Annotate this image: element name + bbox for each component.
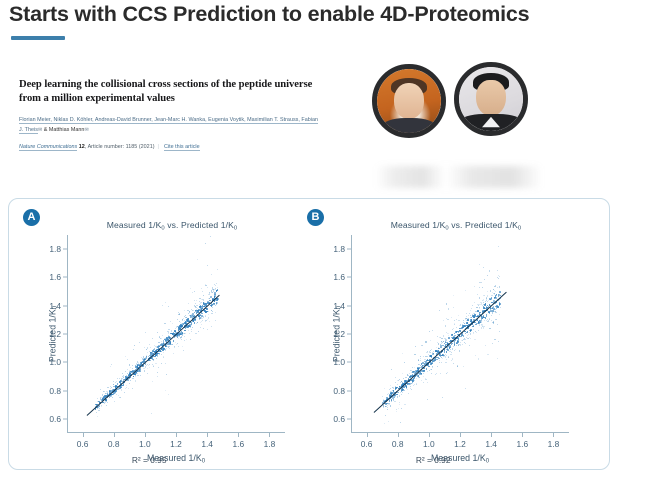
scatter-point — [408, 393, 409, 394]
scatter-point — [396, 394, 398, 396]
scatter-point — [138, 363, 139, 364]
scatter-point — [215, 288, 216, 289]
scatter-point — [466, 313, 467, 314]
scatter-point — [168, 329, 169, 330]
y-tick-mark — [63, 334, 67, 335]
scatter-point — [473, 329, 474, 330]
scatter-point — [446, 351, 448, 353]
scatter-point — [174, 330, 176, 332]
scatter-point — [211, 326, 212, 327]
scatter-point — [208, 298, 209, 299]
y-tick-mark — [347, 277, 351, 278]
scatter-point — [157, 372, 158, 373]
scatter-point — [499, 314, 500, 315]
scatter-point — [99, 408, 100, 409]
scatter-point — [494, 290, 495, 291]
scatter-point — [208, 317, 209, 318]
scatter-point — [487, 291, 488, 292]
scatter-point — [181, 323, 182, 324]
x-tick-mark — [269, 433, 270, 437]
scatter-point — [135, 374, 136, 375]
scatter-point — [194, 291, 195, 292]
scatter-point — [98, 410, 99, 411]
scatter-point — [119, 389, 120, 390]
scatter-point — [402, 392, 403, 393]
scatter-point — [205, 316, 206, 317]
scatter-point — [146, 349, 147, 350]
r-squared-annotation-b: R² = 0.92 — [416, 455, 451, 465]
scatter-point — [498, 278, 499, 279]
scatter-point — [388, 421, 389, 422]
scatter-point — [149, 364, 150, 365]
scatter-point — [492, 310, 494, 312]
scatter-point — [427, 382, 428, 383]
x-tick-mark — [114, 433, 115, 437]
scatter-point — [457, 365, 458, 366]
scatter-point — [482, 287, 483, 288]
scatter-point — [437, 336, 438, 337]
scatter-point — [192, 327, 193, 328]
scatter-point — [463, 320, 464, 321]
scatter-point — [492, 292, 493, 293]
scatter-point — [129, 364, 130, 365]
x-tick-label: 1.6 — [516, 439, 528, 449]
scatter-point — [402, 389, 404, 391]
avatar-right-image — [459, 67, 523, 131]
x-tick-label: 1.2 — [170, 439, 182, 449]
scatter-plot-b: Predicted 1/K0 Measured 1/K0 1.81.61.41.… — [351, 235, 569, 433]
scatter-point — [395, 377, 396, 378]
scatter-point — [475, 324, 477, 326]
scatter-point — [479, 287, 480, 288]
x-tick-label: 0.6 — [77, 439, 89, 449]
scatter-point — [441, 343, 442, 344]
scatter-point — [456, 343, 458, 345]
scatter-point — [408, 383, 410, 385]
scatter-point — [446, 359, 447, 360]
scatter-point — [489, 270, 490, 271]
scatter-point — [492, 343, 493, 344]
scatter-point — [409, 373, 410, 374]
scatter-point — [414, 380, 415, 381]
journal-name-link[interactable]: Nature Communications — [19, 144, 77, 151]
scatter-point — [488, 320, 489, 321]
scatter-point — [101, 397, 102, 398]
scatter-point — [184, 330, 186, 332]
scatter-point — [122, 376, 123, 377]
scatter-point — [175, 328, 176, 329]
scatter-point — [143, 368, 144, 369]
scatter-point — [474, 286, 475, 287]
scatter-point — [209, 321, 210, 322]
y-tick-mark — [63, 418, 67, 419]
scatter-point — [490, 290, 491, 291]
scatter-point — [203, 316, 204, 317]
scatter-point — [152, 364, 153, 365]
scatter-point — [114, 401, 115, 402]
scatter-point — [451, 352, 452, 353]
avatar-right-face — [476, 80, 505, 116]
scatter-point — [209, 292, 210, 293]
scatter-point — [186, 339, 187, 340]
scatter-point — [385, 415, 386, 416]
scatter-point — [416, 378, 417, 379]
scatter-point — [191, 323, 193, 325]
scatter-point — [478, 358, 479, 359]
avatar-left — [372, 64, 446, 138]
scatter-point — [208, 314, 209, 315]
scatter-point — [412, 367, 413, 368]
scatter-point — [468, 334, 469, 335]
scatter-point — [391, 369, 392, 370]
scatter-plot-a: Predicted 1/K0 Measured 1/K0 1.81.61.41.… — [67, 235, 285, 433]
scatter-point — [132, 368, 133, 369]
scatter-point — [450, 349, 451, 350]
scatter-point — [429, 370, 430, 371]
scatter-point — [97, 416, 98, 417]
scatter-point — [182, 320, 183, 321]
scatter-point — [414, 367, 415, 368]
scatter-point — [450, 345, 452, 347]
scatter-point — [188, 313, 189, 314]
scatter-point — [207, 329, 208, 330]
scatter-point — [443, 341, 444, 342]
scatter-point — [486, 299, 487, 300]
scatter-point — [203, 328, 204, 329]
y-tick-label: 1.6 — [49, 272, 61, 282]
scatter-point — [205, 243, 206, 244]
scatter-point — [200, 327, 201, 328]
scatter-point — [498, 246, 499, 247]
scatter-point — [125, 388, 126, 389]
cite-this-article-link[interactable]: Cite this article — [164, 144, 200, 151]
scatter-point — [393, 400, 394, 401]
scatter-point — [491, 295, 492, 296]
scatter-point — [97, 398, 98, 399]
x-tick-label: 1.6 — [232, 439, 244, 449]
scatter-point — [201, 318, 202, 319]
x-axis-label-b: Measured 1/K0 — [351, 453, 569, 464]
scatter-point — [384, 423, 385, 424]
scatter-point — [479, 264, 480, 265]
scatter-point — [460, 342, 461, 343]
scatter-point — [400, 422, 401, 423]
scatter-point — [411, 389, 412, 390]
scatter-point — [446, 303, 447, 304]
scatter-point — [207, 265, 208, 266]
scatter-point — [188, 303, 189, 304]
scatter-point — [472, 305, 473, 306]
scatter-point — [198, 316, 200, 318]
scatter-point — [181, 339, 182, 340]
scatter-point — [193, 310, 194, 311]
scatter-point — [410, 386, 411, 387]
x-tick-label: 0.8 — [108, 439, 120, 449]
scatter-point — [406, 386, 408, 388]
scatter-point — [105, 402, 106, 403]
scatter-point — [174, 346, 175, 347]
x-tick-mark — [553, 433, 554, 437]
scatter-point — [425, 378, 426, 379]
envelope-icon[interactable]: ✉ — [38, 127, 42, 133]
scatter-point — [429, 331, 430, 332]
scatter-point — [499, 331, 500, 332]
scatter-point — [423, 376, 424, 377]
paper-title: Deep learning the collisional cross sect… — [19, 78, 319, 106]
scatter-point — [497, 270, 498, 271]
scatter-point — [395, 387, 396, 388]
scatter-point — [454, 343, 456, 345]
scatter-point — [166, 374, 167, 375]
y-axis-b — [351, 235, 352, 433]
scatter-point — [487, 354, 488, 355]
scatter-point — [184, 333, 185, 334]
scatter-point — [168, 333, 169, 334]
scatter-point — [450, 354, 451, 355]
scatter-point — [127, 373, 128, 374]
scatter-point — [486, 316, 488, 318]
scatter-point — [199, 317, 201, 319]
scatter-point — [111, 387, 112, 388]
scatter-point — [169, 346, 170, 347]
scatter-point — [404, 404, 405, 405]
scatter-point — [102, 394, 103, 395]
scatter-point — [470, 338, 471, 339]
avatar-left-image — [377, 69, 441, 133]
scatter-point — [463, 335, 465, 337]
scatter-point — [394, 401, 395, 402]
scatter-point — [484, 295, 485, 296]
scatter-point — [430, 340, 431, 341]
scatter-point — [154, 348, 155, 349]
scatter-point — [451, 360, 452, 361]
scatter-point — [415, 346, 416, 347]
scatter-point — [107, 402, 108, 403]
scatter-point — [201, 288, 202, 289]
scatter-point — [216, 299, 218, 301]
scatter-point — [427, 356, 428, 357]
scatter-point — [494, 286, 495, 287]
scatter-point — [157, 376, 158, 377]
scatter-point — [459, 350, 460, 351]
paper-journal-line: Nature Communications 12, Article number… — [19, 144, 319, 150]
scatter-point — [192, 313, 194, 315]
scatter-point — [127, 369, 128, 370]
scatter-point — [217, 287, 218, 288]
scatter-point — [161, 363, 162, 364]
scatter-cloud-b — [351, 235, 569, 433]
scatter-point — [106, 405, 107, 406]
scatter-point — [454, 345, 455, 346]
scatter-point — [182, 319, 183, 320]
scatter-point — [470, 310, 471, 311]
scatter-point — [151, 413, 152, 414]
scatter-point — [144, 370, 145, 371]
scatter-point — [475, 355, 476, 356]
scatter-point — [185, 315, 186, 316]
scatter-point — [157, 356, 158, 357]
scatter-point — [474, 339, 475, 340]
x-tick-label: 0.8 — [392, 439, 404, 449]
scatter-point — [388, 393, 389, 394]
identity-line — [374, 292, 507, 413]
scatter-point — [205, 321, 206, 322]
scatter-point — [497, 358, 498, 359]
scatter-point — [451, 317, 452, 318]
scatter-point — [404, 362, 405, 363]
scatter-point — [201, 324, 202, 325]
scatter-point — [194, 300, 195, 301]
scatter-point — [427, 399, 428, 400]
scatter-point — [399, 404, 400, 405]
scatter-point — [413, 385, 414, 386]
scatter-point — [443, 336, 444, 337]
figure-container: A Measured 1/K0 vs. Predicted 1/K0 Predi… — [8, 198, 610, 470]
y-tick-label: 0.8 — [333, 386, 345, 396]
scatter-point — [119, 387, 121, 389]
scatter-point — [163, 357, 164, 358]
scatter-point — [168, 306, 169, 307]
x-tick-label: 1.0 — [139, 439, 151, 449]
scatter-point — [212, 307, 213, 308]
scatter-point — [462, 344, 463, 345]
scatter-point — [129, 383, 130, 384]
scatter-point — [116, 390, 118, 392]
scatter-point — [113, 384, 114, 385]
scatter-point — [471, 308, 472, 309]
y-tick-label: 1.4 — [333, 301, 345, 311]
scatter-point — [197, 259, 198, 260]
scatter-point — [100, 389, 101, 390]
scatter-point — [400, 392, 401, 393]
scatter-point — [391, 401, 392, 402]
scatter-point — [130, 380, 131, 381]
y-tick-label: 0.6 — [49, 414, 61, 424]
scatter-point — [479, 325, 480, 326]
x-tick-mark — [460, 433, 461, 437]
scatter-point — [439, 362, 440, 363]
scatter-point — [487, 275, 488, 276]
chart-panel-b: B Measured 1/K0 vs. Predicted 1/K0 Predi… — [297, 199, 593, 471]
scatter-point — [118, 395, 119, 396]
scatter-point — [425, 379, 426, 380]
scatter-point — [199, 301, 200, 302]
scatter-point — [387, 409, 388, 410]
scatter-point — [491, 315, 492, 316]
scatter-point — [123, 384, 125, 386]
scatter-point — [125, 356, 126, 357]
y-tick-label: 1.2 — [333, 329, 345, 339]
scatter-point — [484, 320, 485, 321]
scatter-point — [172, 323, 173, 324]
envelope-icon-2[interactable]: ✉ — [84, 127, 88, 133]
x-tick-label: 1.8 — [548, 439, 560, 449]
scatter-point — [188, 330, 189, 331]
scatter-point — [209, 298, 211, 300]
scatter-point — [169, 348, 170, 349]
scatter-point — [184, 310, 185, 311]
scatter-point — [473, 325, 475, 327]
scatter-point — [134, 345, 135, 346]
scatter-point — [470, 330, 472, 332]
x-tick-mark — [367, 433, 368, 437]
scatter-point — [491, 320, 492, 321]
scatter-point — [203, 295, 204, 296]
scatter-point — [467, 331, 469, 333]
scatter-point — [208, 311, 209, 312]
scatter-point — [426, 368, 428, 370]
scatter-point — [161, 341, 162, 342]
y-tick-label: 1.0 — [49, 357, 61, 367]
scatter-point — [390, 385, 391, 386]
scatter-point — [207, 319, 208, 320]
scatter-point — [132, 365, 133, 366]
scatter-point — [485, 345, 486, 346]
paper-authors: Florian Meier, Niklas D. Köhler, Andreas… — [19, 115, 319, 135]
scatter-point — [393, 398, 394, 399]
scatter-point — [145, 367, 146, 368]
scatter-point — [111, 364, 112, 365]
scatter-point — [387, 394, 388, 395]
scatter-point — [454, 320, 455, 321]
scatter-point — [431, 373, 432, 374]
scatter-point — [453, 328, 454, 329]
scatter-point — [135, 376, 136, 377]
scatter-point — [202, 320, 203, 321]
scatter-point — [205, 285, 206, 286]
scatter-point — [390, 391, 391, 392]
scatter-point — [445, 325, 446, 326]
chart-title-b: Measured 1/K0 vs. Predicted 1/K0 — [297, 220, 593, 231]
scatter-point — [152, 338, 153, 339]
scatter-point — [137, 373, 138, 374]
scatter-point — [431, 349, 432, 350]
scatter-point — [196, 309, 197, 310]
scatter-point — [444, 355, 445, 356]
scatter-point — [205, 284, 206, 285]
scatter-point — [195, 303, 196, 304]
scatter-point — [402, 373, 403, 374]
scatter-point — [441, 342, 442, 343]
y-tick-mark — [63, 277, 67, 278]
scatter-point — [201, 315, 203, 317]
y-tick-label: 1.8 — [49, 244, 61, 254]
scatter-point — [453, 307, 454, 308]
scatter-point — [201, 299, 202, 300]
scatter-point — [197, 322, 198, 323]
scatter-point — [402, 353, 403, 354]
scatter-point — [107, 387, 108, 388]
scatter-point — [422, 345, 423, 346]
scatter-point — [401, 394, 402, 395]
scatter-point — [454, 324, 455, 325]
scatter-point — [452, 348, 453, 349]
scatter-point — [147, 373, 148, 374]
page-title: Starts with CCS Prediction to enable 4D-… — [9, 2, 529, 27]
scatter-point — [132, 388, 133, 389]
scatter-point — [187, 326, 189, 328]
scatter-point — [448, 337, 450, 339]
scatter-point — [96, 412, 97, 413]
scatter-point — [441, 338, 442, 339]
scatter-point — [158, 367, 159, 368]
scatter-point — [215, 285, 216, 286]
x-tick-mark — [238, 433, 239, 437]
scatter-point — [483, 299, 484, 300]
scatter-point — [464, 342, 465, 343]
scatter-point — [166, 348, 167, 349]
scatter-point — [495, 291, 496, 292]
